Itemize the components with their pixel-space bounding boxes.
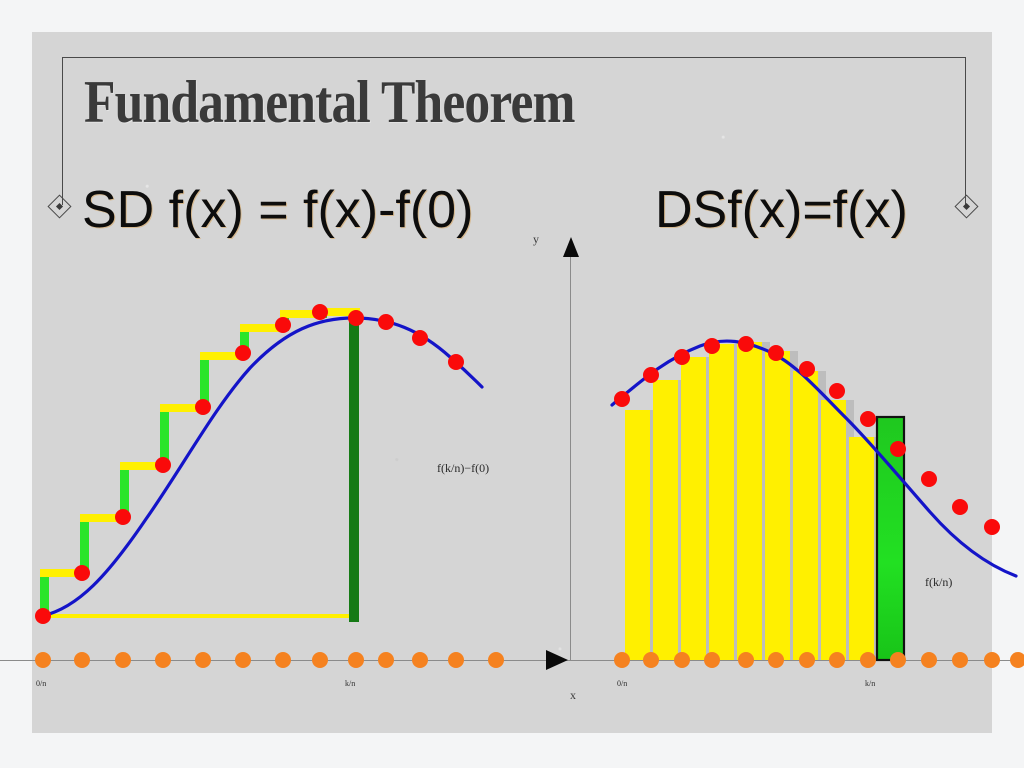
page-title: Fundamental Theorem — [84, 72, 575, 132]
equation-left: SD f(x) = f(x)-f(0) — [82, 180, 473, 240]
left-tick-label-start: 0/n — [36, 679, 46, 688]
x-axis-label: x — [570, 688, 576, 703]
slide-canvas — [32, 32, 992, 733]
left-annotation-label: f(k/n)−f(0) — [437, 461, 489, 476]
frame-top-rule — [62, 57, 966, 58]
y-axis-arrow-icon — [563, 237, 579, 257]
left-tick-label-k: k/n — [345, 679, 355, 688]
right-annotation-label: f(k/n) — [925, 575, 952, 590]
right-tick-label-k: k/n — [865, 679, 875, 688]
slide-root: Fundamental Theorem SD f(x) = f(x)-f(0) … — [0, 0, 1024, 768]
frame-left-rule — [62, 57, 63, 205]
x-axis-arrow-icon — [546, 650, 568, 670]
y-axis-label: y — [533, 232, 539, 247]
frame-right-rule — [965, 57, 966, 205]
right-tick-label-start: 0/n — [617, 679, 627, 688]
x-axis-line — [0, 660, 1024, 661]
y-axis-line — [570, 250, 571, 660]
equation-right: DSf(x)=f(x) — [655, 180, 908, 240]
